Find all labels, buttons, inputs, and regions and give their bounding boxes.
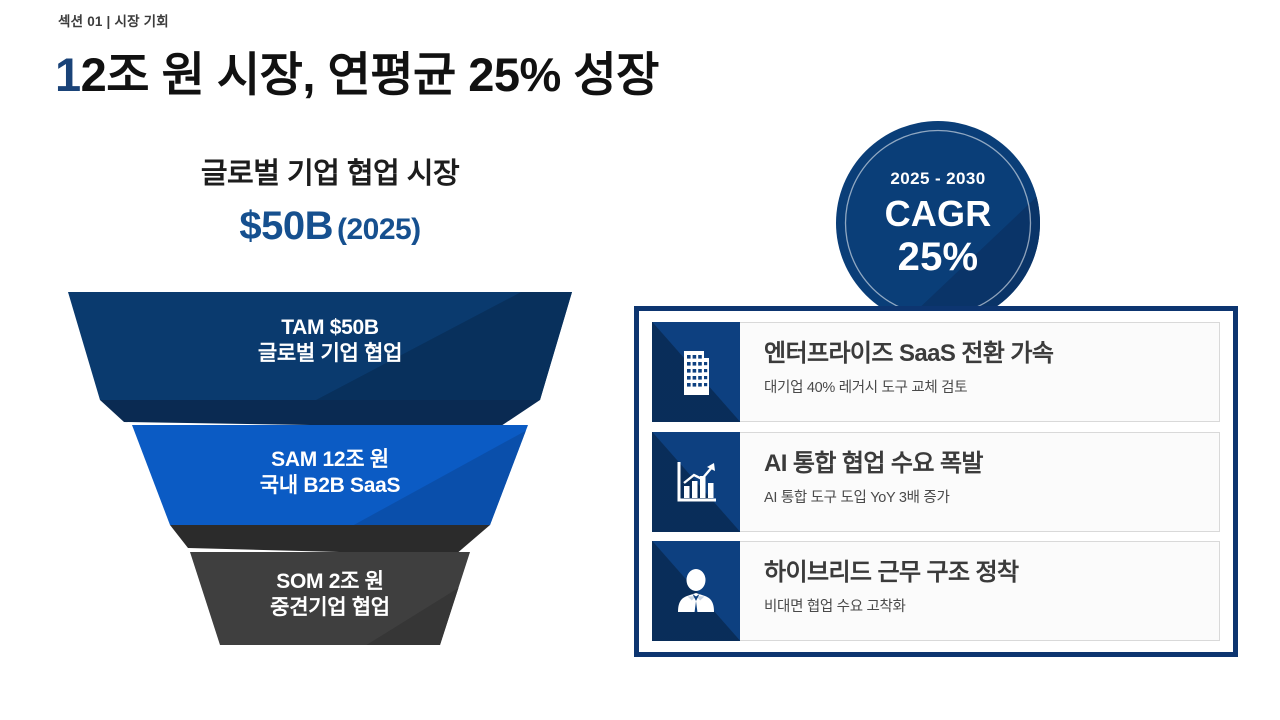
- slide-root: 섹션 01 | 시장 기회 12조 원 시장, 연평균 25% 성장 글로벌 기…: [0, 0, 1280, 720]
- market-year: (2025): [337, 213, 421, 246]
- funnel-graphic: [40, 280, 620, 660]
- driver-card-body: 엔터프라이즈 SaaS 전환 가속 대기업 40% 레거시 도구 교체 검토: [740, 322, 1220, 422]
- market-summary: 글로벌 기업 협업 시장 $50B(2025): [40, 150, 620, 249]
- page-title: 12조 원 시장, 연평균 25% 성장: [55, 36, 659, 105]
- businessman-icon: [652, 541, 740, 641]
- tam-sam-som-funnel: TAM $50B 글로벌 기업 협업 SAM 12조 원 국내 B2B SaaS…: [40, 280, 620, 660]
- driver-card-hybrid-work[interactable]: 하이브리드 근무 구조 정착 비대면 협업 수요 고착화: [652, 541, 1220, 641]
- market-label: 글로벌 기업 협업 시장: [40, 150, 620, 192]
- cagr-badge: 2025 - 2030 CAGR 25%: [836, 121, 1040, 325]
- title-rest: 2조 원 시장, 연평균 25% 성장: [81, 48, 659, 101]
- cagr-value: 25%: [898, 237, 979, 277]
- market-value: $50B: [239, 204, 333, 248]
- bar-chart-growth-icon: [652, 432, 740, 532]
- driver-title: 하이브리드 근무 구조 정착: [764, 560, 1219, 586]
- market-value-row: $50B(2025): [40, 204, 620, 249]
- funnel-shadow-sam: [170, 525, 490, 555]
- driver-title: AI 통합 협업 수요 폭발: [764, 451, 1219, 477]
- section-eyebrow: 섹션 01 | 시장 기회: [58, 10, 169, 30]
- driver-subtitle: 대기업 40% 레거시 도구 교체 검토: [764, 376, 1219, 397]
- driver-card-body: AI 통합 협업 수요 폭발 AI 통합 도구 도입 YoY 3배 증가: [740, 432, 1220, 532]
- cagr-word: CAGR: [885, 196, 992, 232]
- driver-card-body: 하이브리드 근무 구조 정착 비대면 협업 수요 고착화: [740, 541, 1220, 641]
- driver-card-ai-collaboration[interactable]: AI 통합 협업 수요 폭발 AI 통합 도구 도입 YoY 3배 증가: [652, 432, 1220, 532]
- cagr-years: 2025 - 2030: [890, 170, 985, 187]
- cagr-text-group: 2025 - 2030 CAGR 25%: [836, 121, 1040, 325]
- driver-card-enterprise-saas[interactable]: 엔터프라이즈 SaaS 전환 가속 대기업 40% 레거시 도구 교체 검토: [652, 322, 1220, 422]
- funnel-shadow-tam: [100, 400, 540, 428]
- driver-subtitle: 비대면 협업 수요 고착화: [764, 595, 1219, 616]
- building-icon: [652, 322, 740, 422]
- driver-subtitle: AI 통합 도구 도입 YoY 3배 증가: [764, 486, 1219, 507]
- market-drivers-panel: 엔터프라이즈 SaaS 전환 가속 대기업 40% 레거시 도구 교체 검토 A…: [634, 306, 1238, 657]
- driver-title: 엔터프라이즈 SaaS 전환 가속: [764, 341, 1219, 367]
- title-accent-digit: 1: [55, 48, 81, 101]
